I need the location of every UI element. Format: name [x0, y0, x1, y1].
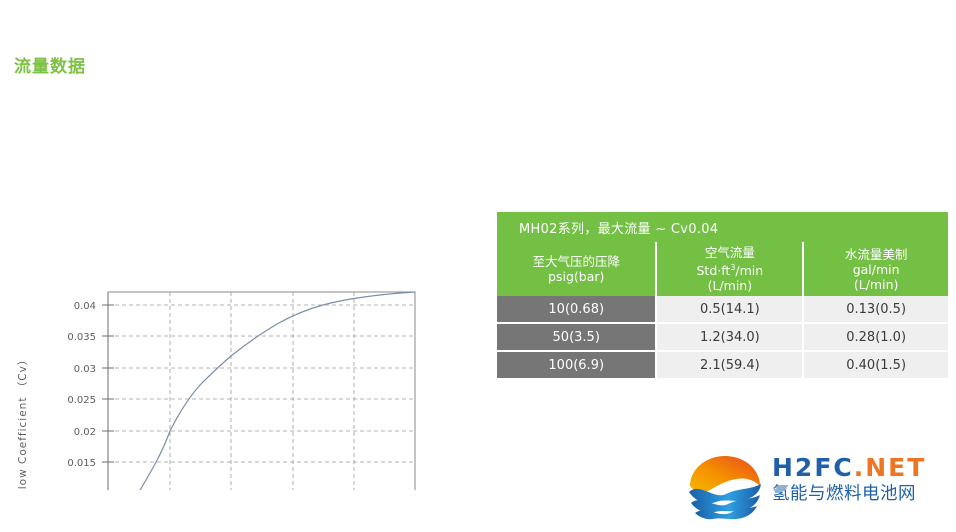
- table-row: 10(0.68) 0.5(14.1) 0.13(0.5): [497, 296, 948, 323]
- logo-wordmark-blue: H2FC: [772, 453, 854, 482]
- header-water-line1: 水流量美制: [804, 247, 948, 262]
- header-air-line1: 空气流量: [657, 245, 802, 260]
- table-title: MH02系列，最大流量 ~ Cv0.04: [497, 212, 948, 242]
- logo-wordmark-orange: .NET: [854, 453, 927, 482]
- sun-wave-icon-svg: [686, 454, 764, 520]
- table-header-pressure: 至大气压的压降 psig(bar): [497, 242, 656, 296]
- table-header-air-flow: 空气流量 Std·ft3/min (L/min): [656, 242, 803, 296]
- chart-y-axis-label: Flow Coefficient （Cv）: [17, 354, 29, 490]
- chart-svg: 0.04 0.035 0.03 0.025 0.02 0.015 0.01 0.…: [0, 140, 470, 490]
- header-water-line2: gal/min: [804, 262, 948, 277]
- header-pressure-line2: psig(bar): [497, 269, 655, 284]
- logo-subtitle: 氢能与燃料电池网: [772, 482, 952, 506]
- svg-text:0.04: 0.04: [74, 301, 96, 312]
- svg-text:0.035: 0.035: [67, 332, 96, 343]
- chart-y-tick-labels: 0.04 0.035 0.03 0.025 0.02 0.015 0.01 0.…: [67, 301, 96, 490]
- table-header-row: 至大气压的压降 psig(bar) 空气流量 Std·ft3/min (L/mi…: [497, 242, 948, 296]
- table-header-water-flow: 水流量美制 gal/min (L/min): [803, 242, 948, 296]
- page-title: 流量数据: [14, 52, 86, 77]
- svg-text:0.02: 0.02: [74, 427, 96, 438]
- cell-water-flow: 0.40(1.5): [803, 351, 948, 379]
- table-title-row: MH02系列，最大流量 ~ Cv0.04: [497, 212, 948, 242]
- page-root: 流量数据: [0, 0, 956, 532]
- header-pressure-line1: 至大气压的压降: [497, 254, 655, 269]
- chart-axes: [108, 292, 415, 490]
- header-water-line3: (L/min): [804, 277, 948, 292]
- header-air-line3: (L/min): [657, 278, 802, 293]
- cell-pressure: 10(0.68): [497, 296, 656, 323]
- cell-air-flow: 0.5(14.1): [656, 296, 803, 323]
- flow-data-table: MH02系列，最大流量 ~ Cv0.04 至大气压的压降 psig(bar) 空…: [497, 212, 948, 380]
- cell-air-flow: 1.2(34.0): [656, 323, 803, 351]
- cell-pressure: 50(3.5): [497, 323, 656, 351]
- logo-text: H2FC.NET 氢能与燃料电池网: [772, 454, 952, 506]
- watermark-logo: H2FC.NET 氢能与燃料电池网: [686, 452, 952, 524]
- header-air-line2: Std·ft3/min: [657, 260, 802, 278]
- cell-water-flow: 0.28(1.0): [803, 323, 948, 351]
- logo-wordmark: H2FC.NET: [772, 454, 952, 482]
- svg-text:0.015: 0.015: [67, 458, 96, 469]
- table-row: 100(6.9) 2.1(59.4) 0.40(1.5): [497, 351, 948, 379]
- cell-air-flow: 2.1(59.4): [656, 351, 803, 379]
- cell-pressure: 100(6.9): [497, 351, 656, 379]
- svg-text:0.025: 0.025: [67, 395, 96, 406]
- table-row: 50(3.5) 1.2(34.0) 0.28(1.0): [497, 323, 948, 351]
- cell-water-flow: 0.13(0.5): [803, 296, 948, 323]
- svg-text:0.03: 0.03: [74, 364, 96, 375]
- sun-wave-icon: [686, 454, 764, 520]
- flow-coefficient-chart: 0.04 0.035 0.03 0.025 0.02 0.015 0.01 0.…: [0, 140, 470, 490]
